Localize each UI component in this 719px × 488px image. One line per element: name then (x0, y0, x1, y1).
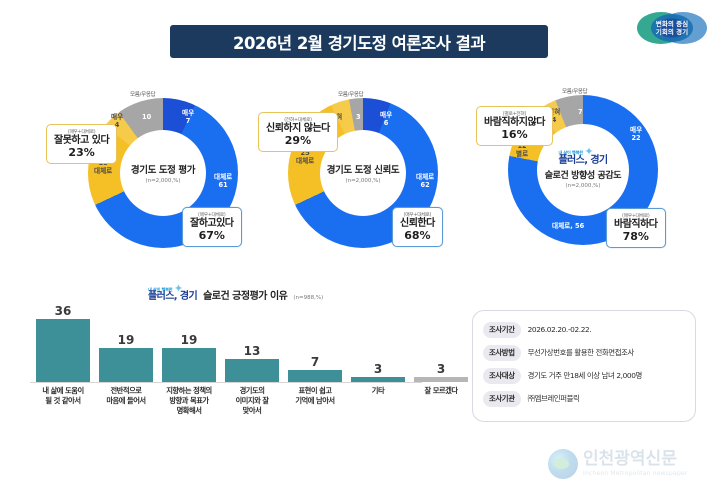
bar-category-label: 전반적으로마음에 들어서 (95, 386, 157, 406)
callout-positive-slogan: (매우+대체로) 바람직하다 78% (606, 208, 666, 248)
donut-segment-label-nodata: 3 (356, 114, 361, 122)
donut-sample-size: (n=2,000,%) (145, 178, 180, 184)
donut-segment-label-mostly: 대체로, 56 (552, 223, 584, 231)
info-row: 조사기간 2026.02.20.-02.22. (483, 318, 695, 341)
donut-segment-label-mostly-pos: 대체로 62 (416, 174, 434, 189)
info-value: 2026.02.20.-02.22. (528, 325, 592, 334)
bar-value: 19 (99, 333, 153, 347)
bar-category-label: 표현이 쉽고기억에 남아서 (284, 386, 346, 406)
butterfly-icon: ✦ (174, 283, 183, 294)
bar-chart-category-labels: 내 삶에 도움이될 것 같아서 전반적으로마음에 들어서 지향하는 정책의방향과… (36, 386, 426, 420)
donut-segment-label-very: 매우 7 (182, 110, 194, 125)
donut-sample-size: (n=2,000,%) (565, 183, 600, 189)
donut-segment-label-very: 매우 22 (630, 127, 642, 142)
info-value: 무선가상번호를 활용한 전화면접조사 (528, 347, 634, 358)
callout-positive-evaluation: (매우+대체로) 잘하고있다 67% (182, 207, 242, 247)
bar-value: 13 (225, 344, 279, 358)
bar-rect (288, 370, 342, 382)
bar-category-label: 내 삶에 도움이될 것 같아서 (32, 386, 94, 406)
bar-chart-title: 슬로건 긍정평가 이유 (203, 287, 287, 302)
bar-value: 7 (288, 355, 342, 369)
donut-center: 경기도 도정 평가 (n=2,000,%) (120, 130, 206, 216)
watermark-name-ko: 인천광역신문 (583, 451, 688, 468)
donut-title: 경기도 도정 신뢰도 (327, 162, 400, 176)
donut-segment-label-nodata: 10 (142, 114, 151, 122)
info-tag: 조사대상 (483, 368, 521, 384)
watermark-text: 인천광역신문 Incheon Metropolitan newspaper (583, 451, 688, 477)
bar-rect (36, 319, 90, 382)
bar-value: 36 (36, 304, 90, 318)
callout-positive-trust: (매우+대체로) 신뢰한다 68% (392, 207, 443, 247)
donut-title: 경기도 도정 평가 (131, 162, 195, 176)
donut-segment-label-very: 매우 6 (380, 112, 392, 127)
bar-rect (414, 377, 468, 382)
callout-negative-slogan: (별로+전혀) 바람직하지않다 16% (476, 106, 553, 146)
survey-method-box: 조사기간 2026.02.20.-02.22. 조사방법 무선가상번호를 활용한… (472, 310, 696, 422)
bar-chart-axis-line (30, 382, 422, 383)
bar-category-label: 지향하는 정책의방향과 목표가명확해서 (158, 386, 220, 416)
donut-lead-label-nodata: 모름/무응답 (130, 90, 155, 98)
bar-chart-sample-size: (n=988,%) (293, 295, 323, 302)
callout-negative-trust: (전혀+대체로) 신뢰하지 않는다 29% (258, 112, 338, 152)
plus-gyeonggi-logo: ✦ 내 삶이 행복한 플러스, 경기 (558, 151, 607, 165)
donut-sample-size: (n=2,000,%) (345, 178, 380, 184)
donut-title: 슬로건 방향성 공감도 (545, 168, 621, 181)
butterfly-icon: ✦ (584, 146, 593, 157)
bar-value: 19 (162, 333, 216, 347)
bar-value: 3 (351, 362, 405, 376)
page-title: 2026년 2월 경기도정 여론조사 결과 (170, 25, 548, 58)
callout-negative-evaluation: (매우+대체로) 잘못하고 있다 23% (46, 124, 117, 164)
newspaper-watermark: 인천광역신문 Incheon Metropolitan newspaper (548, 443, 716, 485)
info-tag: 조사기간 (483, 322, 521, 338)
info-value: 경기도 거주 만18세 이상 남녀 2,000명 (528, 370, 642, 381)
donut-lead-label-nodata: 모름/무응답 (338, 90, 363, 98)
info-row: 조사대상 경기도 거주 만18세 이상 남녀 2,000명 (483, 364, 695, 387)
info-row: 조사기관 ㈜엠브레인퍼블릭 (483, 387, 695, 410)
donut-segment-label-mostly-pos: 대체로 61 (214, 174, 232, 189)
info-row: 조사방법 무선가상번호를 활용한 전화면접조사 (483, 341, 695, 364)
watermark-name-en: Incheon Metropolitan newspaper (583, 470, 688, 477)
donut-segment-label-nodata: 7 (578, 109, 583, 117)
bar-category-label: 잘 모르겠다 (410, 386, 472, 396)
gyeonggi-brand-logo: 변화의 중심 기회의 경기 (633, 4, 711, 52)
bar-rect (225, 359, 279, 382)
info-tag: 조사기관 (483, 391, 521, 407)
bar-chart-plot: 36 19 19 13 7 3 3 (36, 312, 416, 382)
page-title-text: 2026년 2월 경기도정 여론조사 결과 (233, 30, 485, 54)
globe-icon (548, 449, 578, 479)
bar-value: 3 (414, 362, 468, 376)
info-value: ㈜엠브레인퍼블릭 (528, 393, 580, 404)
poll-result-infographic: 2026년 2월 경기도정 여론조사 결과 변화의 중심 기회의 경기 경기도 … (0, 0, 719, 488)
bar-category-label: 기타 (347, 386, 409, 396)
donut-segment-label-mostly-neg: 25 대체로 (296, 150, 314, 165)
gyeonggi-logo-text: 변화의 중심 기회의 경기 (656, 20, 688, 36)
info-tag: 조사방법 (483, 345, 521, 361)
bar-rect (99, 348, 153, 382)
donut-lead-label-nodata: 모름/무응답 (562, 87, 587, 95)
bar-rect (162, 348, 216, 382)
bar-chart-header: ✦ 내 삶이 행복한 플러스, 경기 슬로건 긍정평가 이유 (n=988,%) (148, 287, 323, 302)
bar-category-label: 경기도의이미지와 잘맞아서 (221, 386, 283, 416)
plus-gyeonggi-logo-bar: ✦ 내 삶이 행복한 플러스, 경기 (148, 288, 197, 302)
